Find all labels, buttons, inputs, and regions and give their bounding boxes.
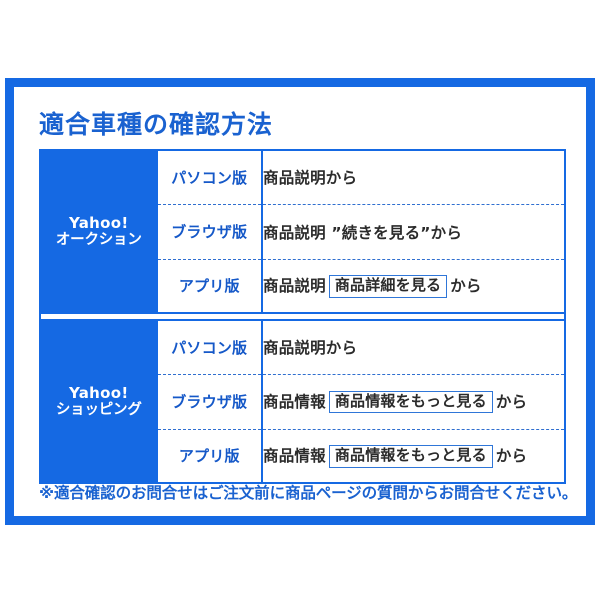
desc-text-before: 商品情報 <box>263 393 326 411</box>
brand-cell-shopping: Yahoo! ショッピング <box>40 320 157 483</box>
desc-cell: 商品説明から <box>262 150 565 204</box>
separator-desc-segment <box>262 313 565 320</box>
ui-button-reference: 商品詳細を見る <box>329 275 447 297</box>
desc-text-before: 商品説明 ”続きを見る”から <box>263 224 462 242</box>
separator-platform-segment <box>157 313 262 320</box>
info-panel-frame: 適合車種の確認方法 Yahoo! オークション パソコン版 商品説明から <box>5 78 595 525</box>
ui-button-reference: 商品情報をもっと見る <box>329 391 493 413</box>
ui-button-reference: 商品情報をもっと見る <box>329 445 493 467</box>
page-title: 適合車種の確認方法 <box>39 105 273 141</box>
platform-cell-app: アプリ版 <box>157 259 262 313</box>
platform-cell-browser: ブラウザ版 <box>157 374 262 429</box>
platform-cell-browser: ブラウザ版 <box>157 204 262 259</box>
info-panel-inner: 適合車種の確認方法 Yahoo! オークション パソコン版 商品説明から <box>14 87 586 516</box>
brand-label-line2: オークション <box>41 232 157 250</box>
footer-note: ※適合確認のお問合せはご注文前に商品ページの質問からお問合せください。 <box>39 481 577 503</box>
desc-cell: 商品情報商品情報をもっと見るから <box>262 429 565 483</box>
table-row: Yahoo! ショッピング パソコン版 商品説明から <box>40 320 565 374</box>
brand-label-line1: Yahoo! <box>41 384 157 402</box>
desc-text-after: から <box>496 393 527 411</box>
desc-cell: 商品説明商品詳細を見るから <box>262 259 565 313</box>
section-separator <box>40 313 565 320</box>
platform-cell-app: アプリ版 <box>157 429 262 483</box>
platform-cell-pc: パソコン版 <box>157 150 262 204</box>
desc-text-after: から <box>496 447 527 465</box>
desc-text-before: 商品説明 <box>263 277 326 295</box>
desc-text-before: 商品情報 <box>263 447 326 465</box>
desc-cell: 商品説明 ”続きを見る”から <box>262 204 565 259</box>
brand-cell-auction: Yahoo! オークション <box>40 150 157 313</box>
desc-cell: 商品情報商品情報をもっと見るから <box>262 374 565 429</box>
desc-cell: 商品説明から <box>262 320 565 374</box>
page-canvas: 適合車種の確認方法 Yahoo! オークション パソコン版 商品説明から <box>0 0 600 600</box>
brand-label-line1: Yahoo! <box>41 214 157 232</box>
table-row: Yahoo! オークション パソコン版 商品説明から <box>40 150 565 204</box>
desc-text-before: 商品説明から <box>263 339 357 357</box>
brand-label-line2: ショッピング <box>41 402 157 420</box>
desc-text-before: 商品説明から <box>263 169 357 187</box>
compatibility-table: Yahoo! オークション パソコン版 商品説明から ブラウザ版 商品説明 <box>39 149 566 484</box>
platform-cell-pc: パソコン版 <box>157 320 262 374</box>
compatibility-table-wrapper: Yahoo! オークション パソコン版 商品説明から ブラウザ版 商品説明 <box>39 149 566 484</box>
separator-brand-segment <box>40 313 157 320</box>
desc-text-after: から <box>450 277 481 295</box>
